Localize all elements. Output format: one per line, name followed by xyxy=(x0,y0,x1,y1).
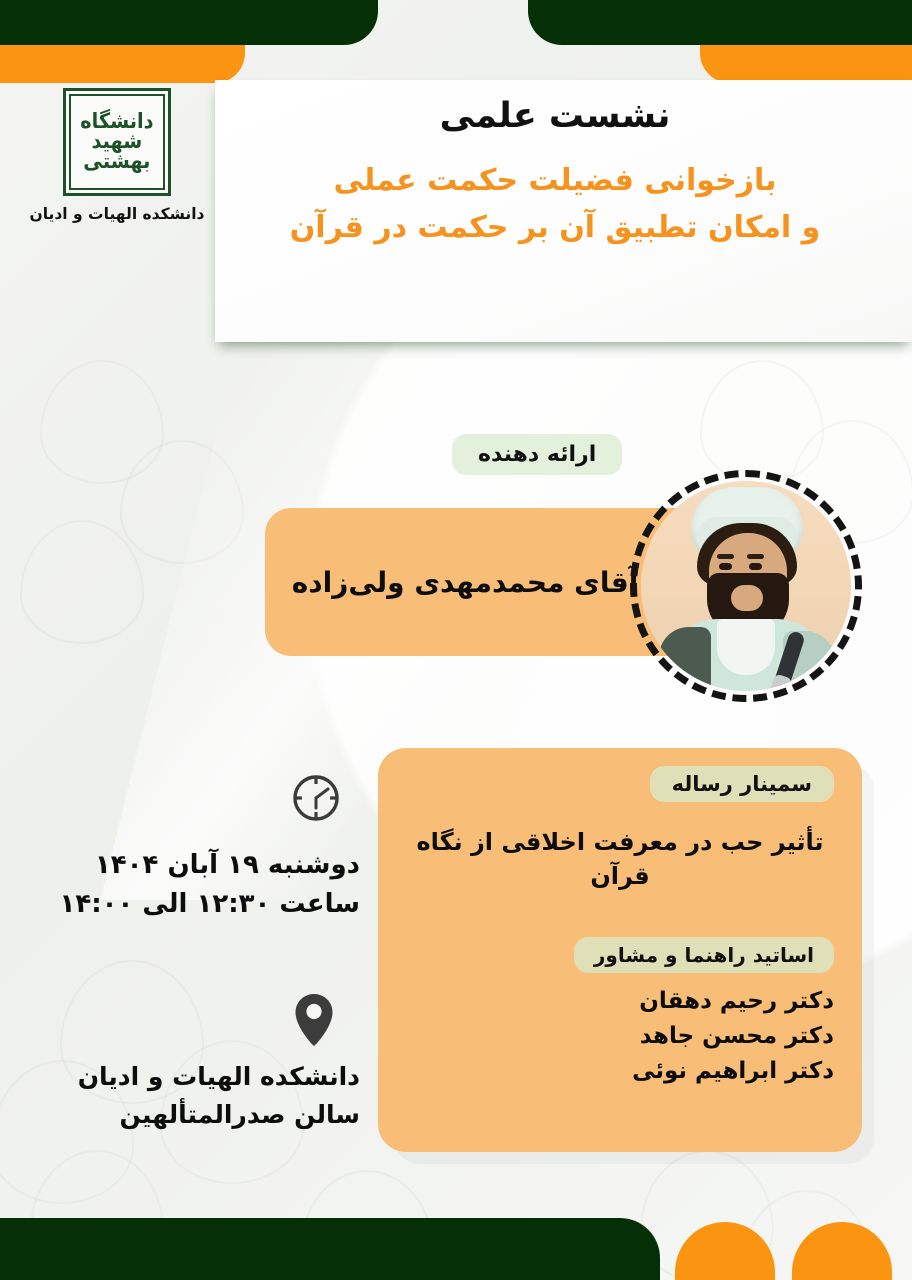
top-orange-bar-left xyxy=(0,45,245,83)
top-orange-bar-right xyxy=(700,45,912,83)
advisor-name-2: دکتر محسن جاهد xyxy=(406,1020,834,1053)
event-title-line-1: بازخوانی فضیلت حکمت عملی xyxy=(215,158,895,205)
clock-icon xyxy=(290,772,342,824)
logo-frame: دانشگاه شهید بهشتی xyxy=(63,88,171,196)
shoulder-left xyxy=(659,627,711,691)
avatar-photo xyxy=(641,481,851,691)
event-title-line-2: و امکان تطبیق آن بر حکمت در قرآن xyxy=(215,205,895,252)
eyebrow-left xyxy=(717,554,734,559)
event-date: دوشنبه ۱۹ آبان ۱۴۰۴ xyxy=(20,846,360,885)
logo-calligraphy-icon: دانشگاه شهید بهشتی xyxy=(80,112,153,171)
location-pin-icon xyxy=(292,992,336,1048)
collar-shape xyxy=(717,619,775,675)
eye-right xyxy=(749,563,762,570)
title-text-group: نشست علمی بازخوانی فضیلت حکمت عملی و امک… xyxy=(215,96,895,251)
advisor-name-3: دکتر ابراهیم نوئی xyxy=(406,1055,834,1088)
presenter-pill-label: ارائه دهنده xyxy=(452,434,622,475)
venue-line-1: دانشکده الهیات و ادیان xyxy=(20,1058,360,1096)
seminar-panel-content: سمینار رساله تأثیر حب در معرفت اخلاقی از… xyxy=(378,748,862,1152)
bottom-orange-shape-1 xyxy=(675,1222,775,1280)
venue-block: دانشکده الهیات و ادیان سالن صدرالمتألهین xyxy=(20,1058,360,1133)
seminar-pill-label: سمینار رساله xyxy=(650,766,834,802)
top-green-bar-left xyxy=(0,0,378,45)
university-logo: دانشگاه شهید بهشتی دانشکده الهیات و ادیا… xyxy=(22,88,212,223)
venue-line-2: سالن صدرالمتألهین xyxy=(20,1096,360,1134)
presenter-avatar xyxy=(630,470,862,702)
mouth-area xyxy=(731,585,763,611)
event-kicker: نشست علمی xyxy=(215,96,895,136)
event-time: ساعت ۱۲:۳۰ الی ۱۴:۰۰ xyxy=(20,885,360,924)
faculty-name: دانشکده الهیات و ادیان xyxy=(22,205,212,223)
top-green-bar-right xyxy=(528,0,912,45)
eye-left xyxy=(719,563,732,570)
schedule-block: دوشنبه ۱۹ آبان ۱۴۰۴ ساعت ۱۲:۳۰ الی ۱۴:۰۰ xyxy=(20,846,360,924)
advisors-pill-label: اساتید راهنما و مشاور xyxy=(574,937,834,973)
bottom-green-bar xyxy=(0,1218,660,1280)
poster-canvas: نشست علمی بازخوانی فضیلت حکمت عملی و امک… xyxy=(0,0,912,1280)
advisor-name-1: دکتر رحیم دهقان xyxy=(406,985,834,1018)
bottom-orange-shape-2 xyxy=(792,1222,892,1280)
eyebrow-right xyxy=(747,554,764,559)
logo-line-3: بهشتی xyxy=(80,152,153,172)
thesis-title: تأثیر حب در معرفت اخلاقی از نگاه قرآن xyxy=(406,826,834,893)
presenter-name: آقای محمدمهدی ولی‌زاده xyxy=(265,508,665,656)
